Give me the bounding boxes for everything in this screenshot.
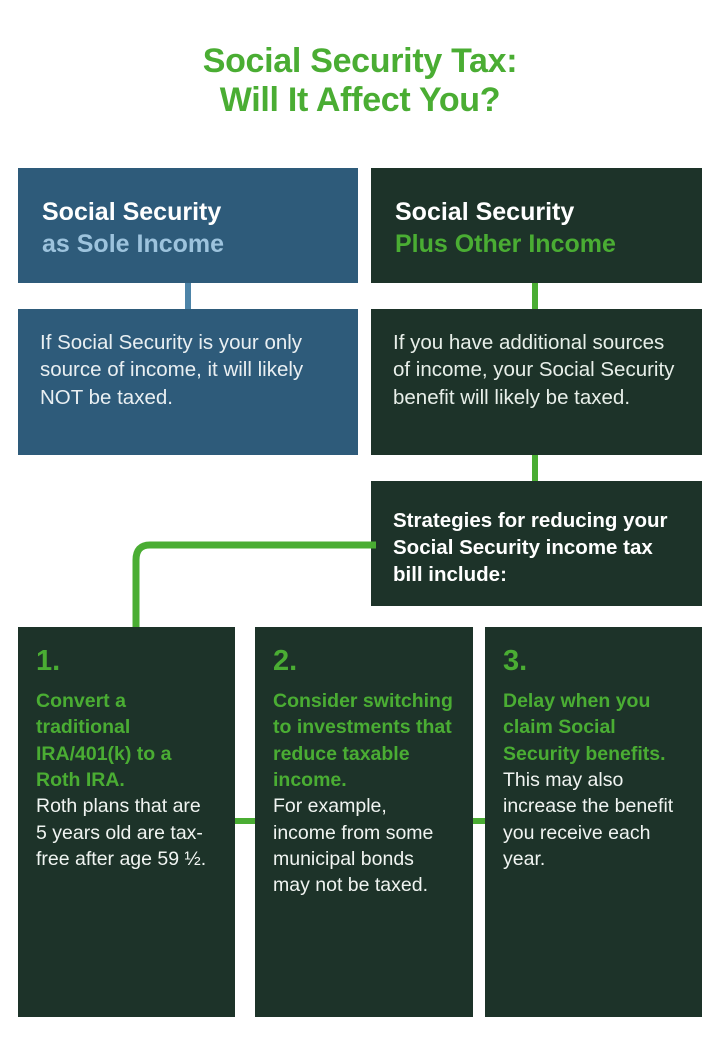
left-header-box: Social Security as Sole Income bbox=[18, 168, 358, 283]
card-2-number: 2. bbox=[273, 647, 455, 676]
page-title-line-2: Will It Affect You? bbox=[0, 81, 720, 120]
right-header-line-2: Plus Other Income bbox=[395, 228, 678, 260]
card-1-number: 1. bbox=[36, 647, 217, 676]
right-header-box: Social Security Plus Other Income bbox=[371, 168, 702, 283]
strategies-text: Strategies for reducing your Social Secu… bbox=[393, 509, 668, 586]
right-body-box: If you have additional sources of income… bbox=[371, 309, 702, 455]
card-3-number: 3. bbox=[503, 647, 684, 676]
connector-right-vertical-1 bbox=[532, 283, 538, 309]
connector-left-vertical bbox=[185, 283, 191, 309]
connector-card-1-to-2 bbox=[235, 818, 255, 824]
page-title-line-1: Social Security Tax: bbox=[0, 42, 720, 81]
strategies-box: Strategies for reducing your Social Secu… bbox=[371, 481, 702, 606]
right-header-line-1: Social Security bbox=[395, 196, 678, 228]
card-2-headline: Consider switching to investments that r… bbox=[273, 688, 455, 793]
card-2-body: For example, income from some municipal … bbox=[273, 793, 455, 898]
infographic-root: Social Security Tax: Will It Affect You?… bbox=[0, 0, 720, 1039]
strategy-card-3: 3. Delay when you claim Social Security … bbox=[485, 627, 702, 1017]
card-1-headline: Convert a traditional IRA/401(k) to a Ro… bbox=[36, 688, 217, 793]
strategy-card-2: 2. Consider switching to investments tha… bbox=[255, 627, 473, 1017]
left-header-line-2: as Sole Income bbox=[42, 228, 334, 260]
connector-card-2-to-3 bbox=[473, 818, 485, 824]
strategy-card-1: 1. Convert a traditional IRA/401(k) to a… bbox=[18, 627, 235, 1017]
left-header-line-1: Social Security bbox=[42, 196, 334, 228]
right-body-text: If you have additional sources of income… bbox=[393, 331, 674, 409]
left-body-box: If Social Security is your only source o… bbox=[18, 309, 358, 455]
card-3-body: This may also increase the benefit you r… bbox=[503, 767, 684, 872]
connector-elbow-to-card-1 bbox=[118, 536, 376, 636]
connector-right-vertical-2 bbox=[532, 455, 538, 481]
left-body-text: If Social Security is your only source o… bbox=[40, 331, 303, 409]
card-3-headline: Delay when you claim Social Security ben… bbox=[503, 688, 684, 767]
page-title: Social Security Tax: Will It Affect You? bbox=[0, 42, 720, 121]
card-1-body: Roth plans that are 5 years old are tax-… bbox=[36, 793, 217, 872]
